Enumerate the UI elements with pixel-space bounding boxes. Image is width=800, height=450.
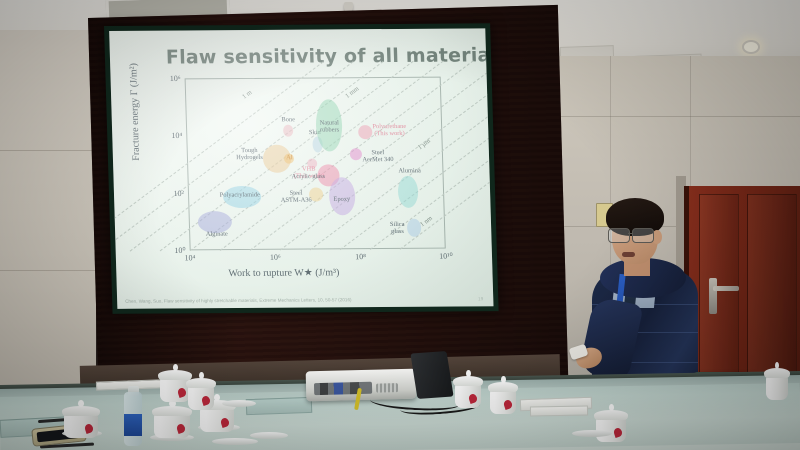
data-point-label: Steel AerMet 340 [362, 150, 393, 164]
x-axis-tick: 10⁶ [270, 253, 281, 262]
paper-sheet [530, 405, 588, 416]
data-point-label: Polyacrylamide [220, 192, 260, 199]
x-axis-tick: 10⁴ [184, 253, 195, 262]
data-point-label: Epoxy [333, 196, 350, 203]
data-point-label: Alumina [398, 169, 421, 176]
y-axis-tick: 10² [173, 189, 184, 198]
projection-screen: Flaw sensitivity of all materials 10⁰10²… [104, 23, 499, 314]
x-axis-tick: 10⁸ [355, 252, 366, 261]
tea-cup[interactable] [154, 404, 190, 438]
name-plate [246, 397, 313, 415]
tea-cup[interactable] [766, 366, 788, 388]
tea-cup[interactable] [490, 380, 516, 406]
mouth [622, 252, 635, 257]
data-point-label: Tough Hydrogels [236, 148, 263, 162]
slide-title: Flaw sensitivity of all materials [166, 44, 494, 68]
projector-ports [314, 382, 372, 395]
y-axis-tick: 10⁴ [171, 131, 182, 140]
data-point-label: Alginate [206, 232, 228, 239]
projector-vent [376, 383, 398, 393]
data-point-label: Silica glass [390, 222, 405, 236]
bottle-label [124, 414, 142, 436]
data-point-label: Bone [281, 118, 295, 125]
y-axis-label: Fracture energy Γ (J/m²) [128, 63, 142, 161]
x-axis-label: Work to rupture W★ (J/m³) [228, 267, 339, 279]
tea-cup[interactable] [455, 374, 481, 400]
tea-cup[interactable] [188, 376, 214, 402]
slide-number: 19 [478, 296, 483, 301]
saucer [212, 438, 258, 445]
y-axis-tick: 10⁶ [170, 74, 181, 83]
laptop[interactable] [410, 351, 453, 399]
saucer [572, 430, 612, 437]
data-point-label: Natural rubbers [320, 121, 340, 135]
presentation-slide: Flaw sensitivity of all materials 10⁰10²… [109, 28, 493, 309]
scatter-plot: 10⁰10²10⁴10⁶10⁴10⁶10⁸10¹⁰1 m1 mm1 µm1 nm… [185, 77, 446, 251]
door-lever-icon[interactable] [713, 286, 739, 291]
x-axis-tick: 10¹⁰ [439, 252, 453, 261]
saucer [250, 432, 288, 439]
data-point-label: Al [286, 155, 293, 162]
data-point-label: Polyurethane (This work) [372, 124, 406, 138]
data-point-label: Steel ASTM-A36 [281, 191, 312, 205]
eyeglasses-icon [608, 228, 660, 241]
data-point-label: Acrylic glass [292, 174, 326, 181]
saucer [222, 400, 256, 407]
left-wall [0, 30, 96, 390]
door-handle-icon[interactable] [709, 278, 717, 314]
slide-citation: Chen, Wang, Suo, Flaw sensitivity of hig… [125, 297, 352, 304]
conference-room-scene: Flaw sensitivity of all materials 10⁰10²… [0, 0, 800, 450]
recessed-downlight-icon [742, 40, 760, 54]
door-panel [747, 194, 797, 378]
tea-cup[interactable] [64, 404, 98, 434]
